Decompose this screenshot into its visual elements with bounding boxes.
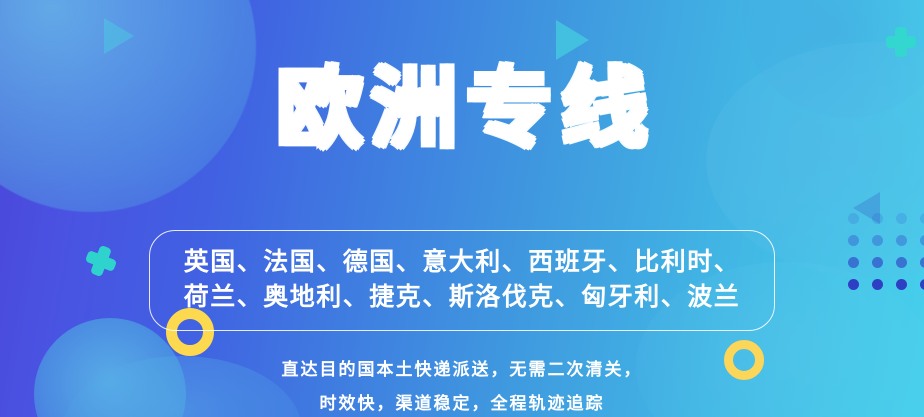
- country-list-box: 英国、法国、德国、意大利、西班牙、比利时、 荷兰、奥地利、捷克、斯洛伐克、匈牙利…: [149, 230, 775, 331]
- country-list-line-1: 英国、法国、德国、意大利、西班牙、比利时、: [166, 244, 758, 280]
- tagline-line-1: 直达目的国本土快递派送，无需二次清关，: [282, 353, 643, 388]
- banner-title: 欧洲专线: [268, 66, 657, 152]
- promo-banner: 欧洲专线 英国、法国、德国、意大利、西班牙、比利时、 荷兰、奥地利、捷克、斯洛伐…: [0, 0, 924, 417]
- banner-content: 欧洲专线 英国、法国、德国、意大利、西班牙、比利时、 荷兰、奥地利、捷克、斯洛伐…: [0, 0, 924, 417]
- tagline-line-2: 时效快，渠道稳定，全程轨迹追踪: [282, 387, 643, 417]
- country-list-line-2: 荷兰、奥地利、捷克、斯洛伐克、匈牙利、波兰: [166, 279, 758, 315]
- tagline-group: 直达目的国本土快递派送，无需二次清关， 时效快，渠道稳定，全程轨迹追踪: [282, 353, 643, 417]
